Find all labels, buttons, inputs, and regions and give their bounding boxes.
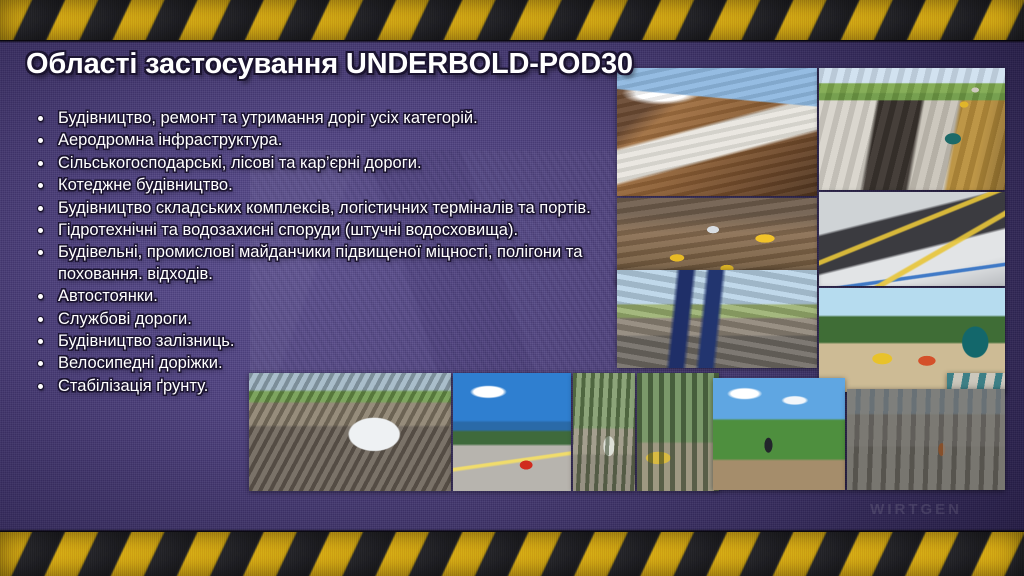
hazard-bottom-shadow: [0, 529, 1024, 532]
application-areas-list: Будівництво, ремонт та утримання доріг у…: [32, 108, 602, 398]
list-item: Будівництво, ремонт та утримання доріг у…: [32, 108, 602, 129]
photo-quarry-embankment: [617, 68, 817, 196]
photo-motor-grader-image: [637, 373, 719, 491]
photo-highway-paving: [819, 68, 1005, 190]
list-item: Стабілізація ґрунту.: [32, 376, 602, 397]
photo-cyclist-road: [713, 378, 845, 490]
photo-cyclist-road-image: [713, 378, 845, 490]
photo-railway-inspectors: [617, 270, 817, 368]
hazard-stripe-bottom-border: [0, 532, 1024, 576]
list-item: Автостоянки.: [32, 286, 602, 307]
hazard-bottom-grain: [0, 532, 1024, 576]
page-title: Області застосування UNDERBOLD-POD30: [26, 48, 633, 81]
photo-highway-paving-image: [819, 68, 1005, 190]
list-item: Сільськогосподарські, лісові та кар’єрні…: [32, 153, 602, 174]
hazard-top-shadow: [0, 40, 1024, 43]
photo-motor-grader: [637, 373, 719, 491]
photo-quarry-embankment-image: [617, 68, 817, 196]
photo-airport-runway: [819, 192, 1005, 286]
hazard-stripe-top-border: [0, 0, 1024, 40]
list-item: Будівельні, промислові майданчики підвищ…: [32, 242, 602, 285]
list-item: Котеджне будівництво.: [32, 175, 602, 196]
photo-airport-runway-image: [819, 192, 1005, 286]
slide: WIRTGEN Області застосування UNDERBOLD-P…: [0, 0, 1024, 576]
list-item: Велосипедні доріжки.: [32, 353, 602, 374]
list-item: Службові дороги.: [32, 309, 602, 330]
list-item: Гідротехнічні та водозахисні споруди (шт…: [32, 220, 602, 241]
wirtgen-watermark-text: WIRTGEN: [870, 501, 962, 518]
photo-railway-viaduct-image: [847, 389, 1005, 490]
list-item: Аеродромна інфраструктура.: [32, 130, 602, 151]
hazard-top-grain: [0, 0, 1024, 40]
list-item: Будівництво складських комплексів, логіс…: [32, 198, 602, 219]
photo-railway-viaduct: [847, 389, 1005, 490]
photo-railway-inspectors-image: [617, 270, 817, 368]
list-item: Будівництво залізниць.: [32, 331, 602, 352]
